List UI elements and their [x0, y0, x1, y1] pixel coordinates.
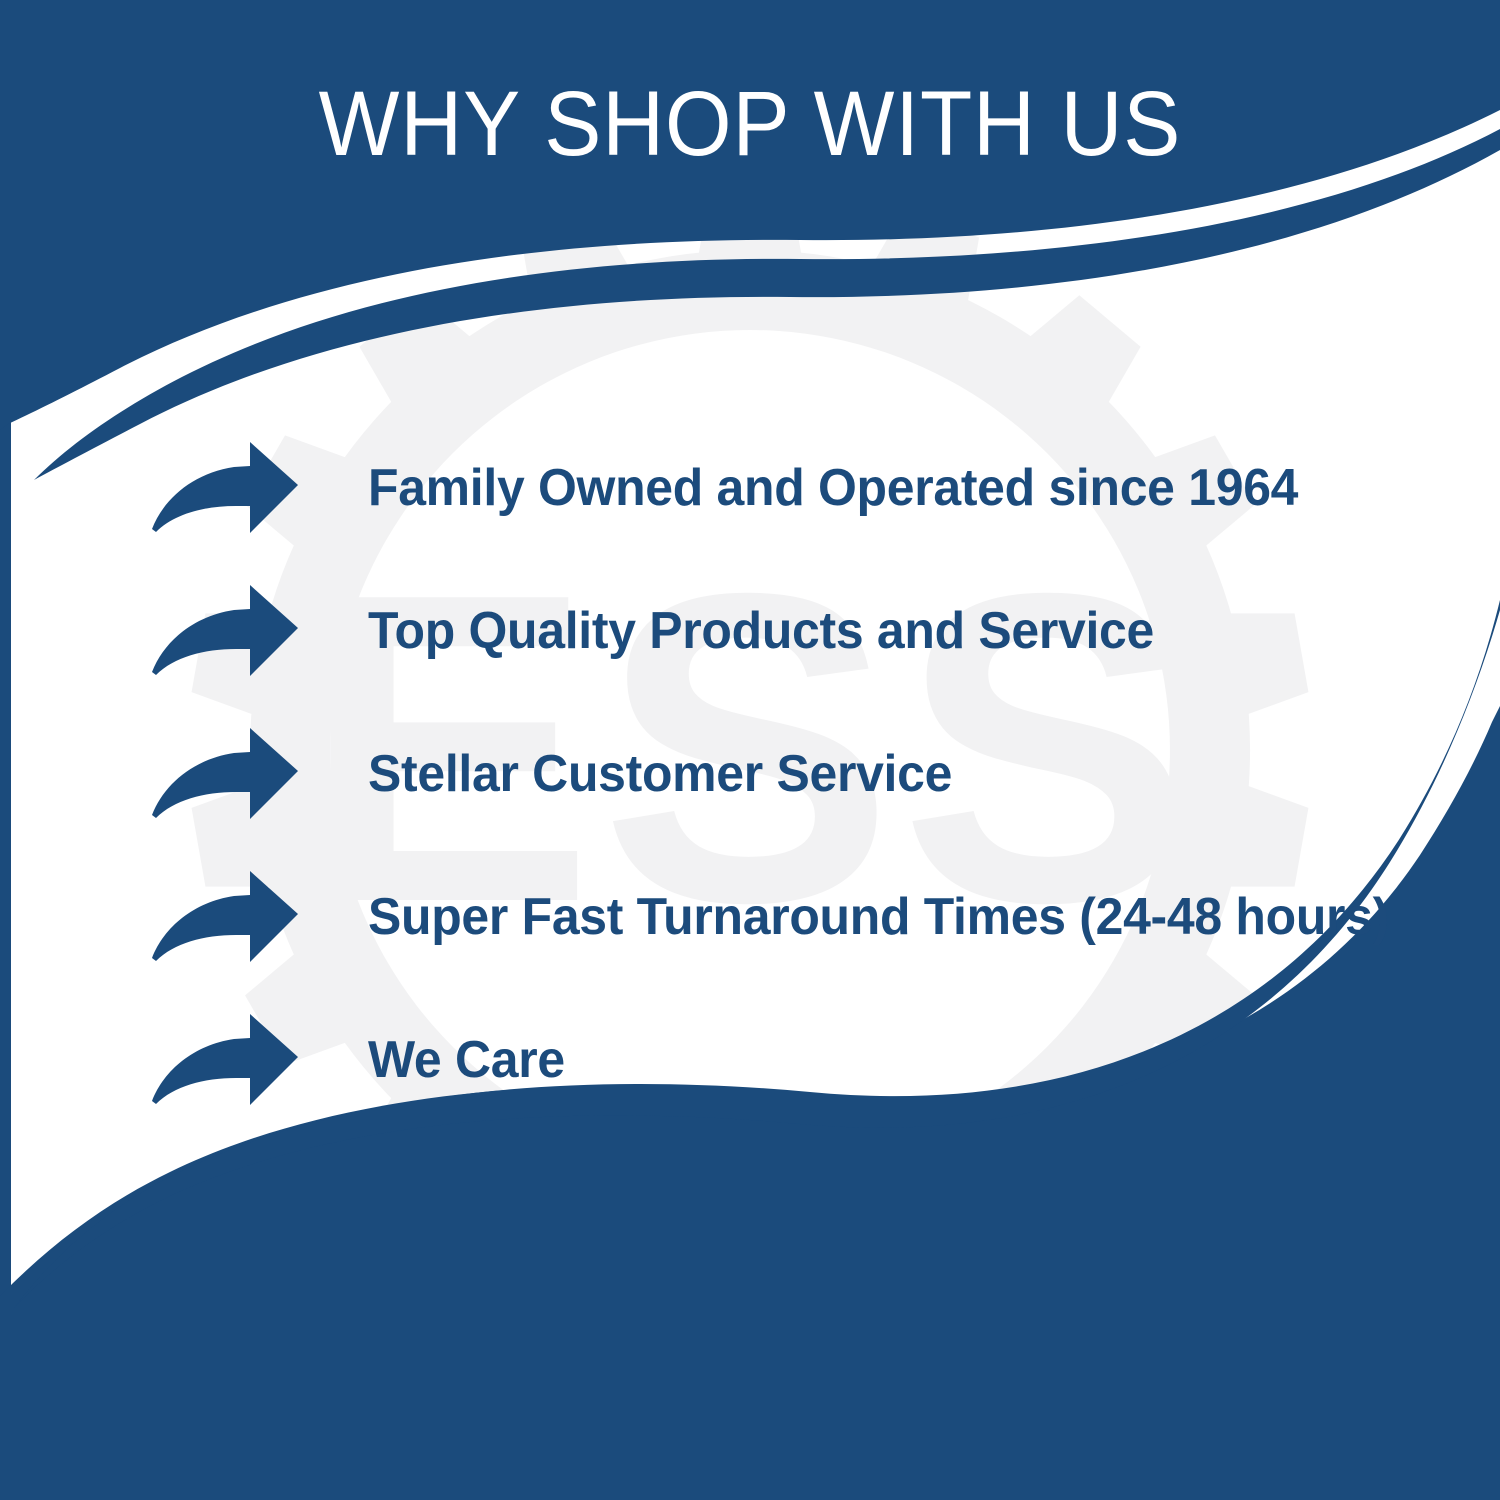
why-shop-with-us-graphic: ESS WHY SHOP WITH US Family Owned and Op… — [0, 0, 1500, 1500]
curved-arrow-right-icon — [150, 869, 300, 965]
page-title: WHY SHOP WITH US — [53, 78, 1448, 170]
list-item-label: We Care — [368, 1033, 1397, 1088]
list-item-label: Super Fast Turnaround Times (24-48 hours… — [368, 890, 1397, 945]
list-item-label: Top Quality Products and Service — [368, 604, 1397, 659]
list-item-label: Stellar Customer Service — [368, 747, 1397, 802]
list-item: We Care — [150, 1012, 1440, 1108]
list-item: Super Fast Turnaround Times (24-48 hours… — [150, 869, 1440, 965]
list-item: Family Owned and Operated since 1964 — [150, 440, 1440, 536]
curved-arrow-right-icon — [150, 1012, 300, 1108]
list-item: Top Quality Products and Service — [150, 583, 1440, 679]
benefits-list: Family Owned and Operated since 1964 Top… — [150, 440, 1440, 1155]
curved-arrow-right-icon — [150, 726, 300, 822]
curved-arrow-right-icon — [150, 440, 300, 536]
curved-arrow-right-icon — [150, 583, 300, 679]
list-item-label: Family Owned and Operated since 1964 — [368, 461, 1397, 516]
list-item: Stellar Customer Service — [150, 726, 1440, 822]
